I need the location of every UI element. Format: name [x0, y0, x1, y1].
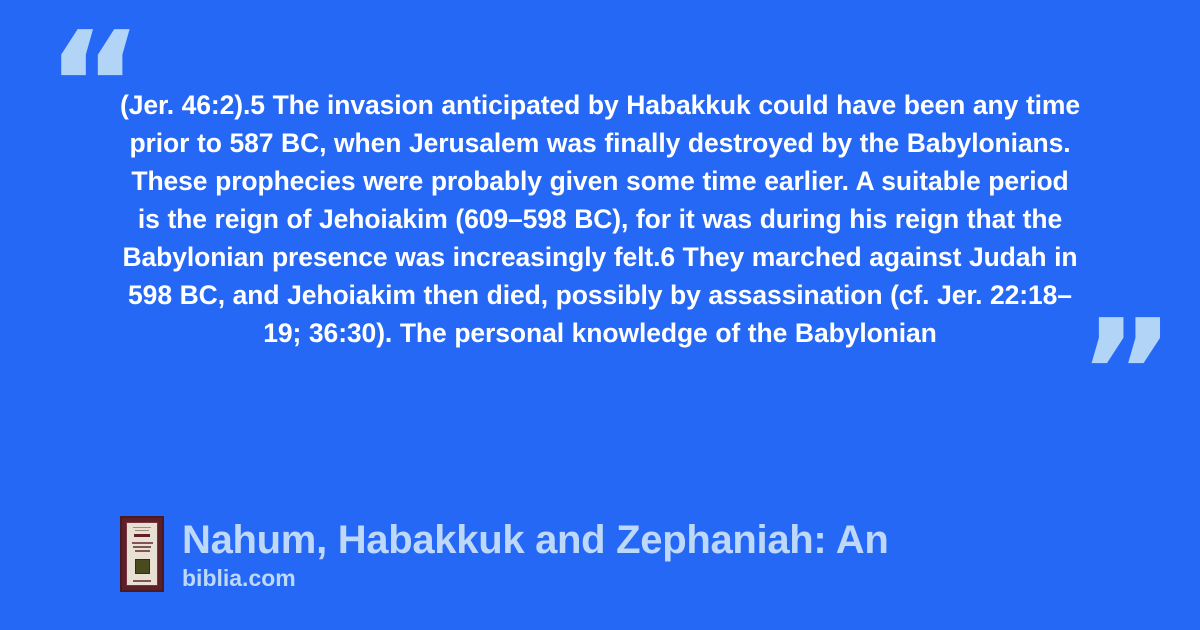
- quote-card: “ (Jer. 46:2).5 The invasion anticipated…: [0, 0, 1200, 630]
- book-title: Nahum, Habakkuk and Zephaniah: An: [182, 517, 889, 563]
- book-cover-author-line: [133, 580, 150, 582]
- book-cover-emblem: [135, 559, 150, 574]
- book-cover-title-line: [132, 542, 153, 544]
- quote-text: (Jer. 46:2).5 The invasion anticipated b…: [118, 86, 1082, 352]
- source-text-block: Nahum, Habakkuk and Zephaniah: An biblia…: [182, 517, 889, 592]
- book-cover-title-line: [135, 550, 150, 552]
- book-cover-inner: [126, 522, 158, 586]
- book-cover-icon: [120, 516, 164, 592]
- book-cover-bar: [134, 534, 150, 537]
- source-site: biblia.com: [182, 564, 889, 592]
- book-cover-header-line: [133, 527, 151, 528]
- book-cover-title-line: [133, 546, 152, 548]
- source-attribution: Nahum, Habakkuk and Zephaniah: An biblia…: [120, 516, 889, 592]
- close-quote-icon: ”: [1078, 300, 1175, 448]
- book-cover-header-line: [135, 530, 149, 531]
